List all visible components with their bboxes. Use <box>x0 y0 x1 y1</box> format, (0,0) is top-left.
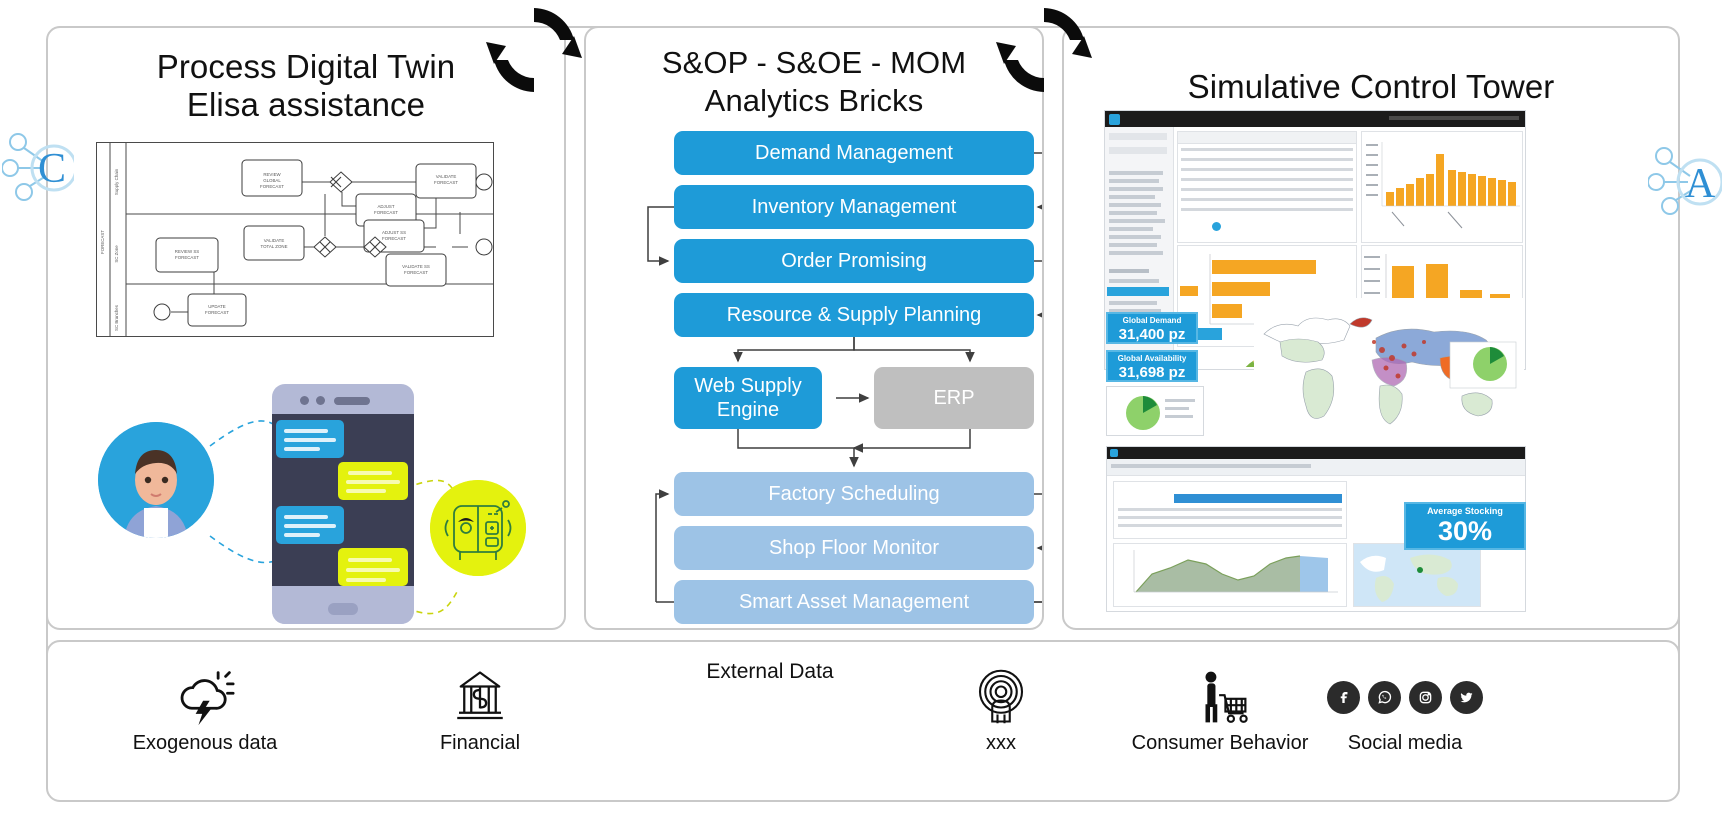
node-letter-a: A <box>1685 161 1716 207</box>
brick-inventory-management[interactable]: Inventory Management <box>674 185 1034 229</box>
phone-sensor-icon <box>316 396 325 405</box>
tile-area-chart <box>1113 543 1347 607</box>
whatsapp-icon[interactable] <box>1368 681 1401 714</box>
panel-analytics-bricks: S&OP - S&OE - MOM Analytics Bricks Dema <box>584 26 1044 630</box>
svg-text:ADJUST: ADJUST <box>377 204 394 209</box>
brick-shop-floor-monitor[interactable]: Shop Floor Monitor <box>674 526 1034 570</box>
sync-cycle-icon-right <box>996 2 1092 98</box>
tile-mini-map <box>1353 543 1481 607</box>
phone-camera-icon <box>300 396 309 405</box>
node-network-icon-c: C <box>2 128 74 206</box>
elisa-chat-illustration <box>90 376 530 630</box>
svg-text:SC Zone: SC Zone <box>114 245 119 263</box>
tile-world-map <box>1254 298 1524 434</box>
svg-text:TOTAL ZONE: TOTAL ZONE <box>261 244 288 249</box>
brick-smart-asset-management[interactable]: Smart Asset Management <box>674 580 1034 624</box>
shopper-cart-icon <box>1125 664 1315 730</box>
chat-bubble-user-2 <box>276 506 344 544</box>
smartphone-mockup <box>272 384 414 624</box>
svg-text:VALIDATE: VALIDATE <box>264 238 285 243</box>
kpi-global-availability-value: 31,698 pz <box>1108 364 1196 381</box>
svg-text:FORECAST: FORECAST <box>382 236 406 241</box>
pagination-current-page[interactable] <box>1212 222 1221 231</box>
brick-web-supply-engine[interactable]: Web Supply Engine <box>674 367 822 429</box>
control-tower-dashboard-screenshot: Global Demand 31,400 pz Global Availabil… <box>1104 110 1624 610</box>
user-avatar <box>98 422 214 538</box>
bottom-titlebar <box>1107 447 1525 459</box>
bpmn-process-diagram: REVIEWGLOBALFORECAST ADJUSTFORECAST VALI… <box>96 142 494 337</box>
kpi-global-demand: Global Demand 31,400 pz <box>1106 312 1198 344</box>
panel-mid-title: S&OP - S&OE - MOM Analytics Bricks <box>586 44 1042 120</box>
source-xxx[interactable]: xxx <box>906 664 1096 755</box>
bank-dollar-icon <box>385 664 575 730</box>
bottom-toolbar[interactable] <box>1107 459 1525 476</box>
kpi-average-stocking-value: 30% <box>1406 516 1524 546</box>
source-xxx-label: xxx <box>906 732 1096 755</box>
kpi-average-stocking-label: Average Stocking <box>1406 504 1524 516</box>
svg-text:Supply Chain: Supply Chain <box>114 168 119 195</box>
instagram-icon[interactable] <box>1409 681 1442 714</box>
panel-simulative-control-tower: Simulative Control Tower <box>1062 26 1680 630</box>
svg-text:ADJUST SS: ADJUST SS <box>382 230 406 235</box>
titlebar-menu <box>1389 116 1519 120</box>
social-icons-row <box>1310 664 1500 730</box>
brick-demand-management[interactable]: Demand Management <box>674 131 1034 175</box>
kpi-global-availability-label: Global Availability <box>1108 352 1196 364</box>
chat-bubble-bot-2 <box>338 548 408 586</box>
wse-line2: Engine <box>717 398 779 422</box>
sync-cycle-icon-left <box>486 2 582 98</box>
tile-orders-table <box>1177 131 1357 243</box>
panel-process-digital-twin: Process Digital Twin Elisa assistance <box>46 26 566 630</box>
node-letter-c: C <box>38 146 66 192</box>
signal-person-icon <box>906 664 1096 730</box>
source-social-media[interactable]: Social media <box>1310 664 1500 755</box>
sidebar-selected-item[interactable] <box>1107 287 1169 296</box>
node-network-icon-a: A <box>1648 140 1722 222</box>
twitter-icon[interactable] <box>1450 681 1483 714</box>
svg-text:FORECAST: FORECAST <box>205 310 229 315</box>
tile-small-pie <box>1106 386 1204 436</box>
tile-production-plan-table <box>1113 481 1347 539</box>
chat-bubble-user-1 <box>276 420 344 458</box>
phone-speaker-icon <box>334 397 370 405</box>
source-exogenous-data-label: Exogenous data <box>110 732 300 755</box>
tile-waterfall-chart <box>1361 131 1523 243</box>
source-consumer-behavior[interactable]: Consumer Behavior <box>1125 664 1315 755</box>
svg-text:REVIEW: REVIEW <box>263 172 281 177</box>
svg-text:FORECAST: FORECAST <box>374 210 398 215</box>
source-social-media-label: Social media <box>1310 732 1500 755</box>
brick-erp[interactable]: ERP <box>874 367 1034 429</box>
panel-external-data-sources: External Data Exogenous data <box>46 640 1680 802</box>
panel-mid-title-line1: S&OP - S&OE - MOM <box>586 44 1042 82</box>
svg-text:GLOBAL: GLOBAL <box>263 178 281 183</box>
svg-text:SC Branches: SC Branches <box>114 304 119 331</box>
phone-chin <box>272 588 414 624</box>
brick-resource-supply-planning[interactable]: Resource & Supply Planning <box>674 293 1034 337</box>
kpi-global-demand-value: 31,400 pz <box>1108 326 1196 343</box>
svg-text:FORECAST: FORECAST <box>175 255 199 260</box>
dashboard-titlebar <box>1105 111 1525 127</box>
source-financial[interactable]: Financial <box>385 664 575 755</box>
external-data-label: External Data <box>675 660 865 684</box>
app-logo-icon <box>1109 114 1120 125</box>
kpi-global-demand-label: Global Demand <box>1108 314 1196 326</box>
phone-screen <box>272 414 414 586</box>
source-consumer-behavior-label: Consumer Behavior <box>1125 732 1315 755</box>
svg-text:FORECAST: FORECAST <box>434 180 458 185</box>
svg-text:UPDATE: UPDATE <box>208 304 226 309</box>
svg-text:REVIEW SS: REVIEW SS <box>175 249 199 254</box>
facebook-icon[interactable] <box>1327 681 1360 714</box>
brick-order-promising[interactable]: Order Promising <box>674 239 1034 283</box>
source-exogenous-data[interactable]: Exogenous data <box>110 664 300 755</box>
panel-right-title: Simulative Control Tower <box>1064 68 1678 106</box>
phone-home-button-icon <box>328 603 358 615</box>
svg-text:FORECAST: FORECAST <box>404 270 428 275</box>
source-financial-label: Financial <box>385 732 575 755</box>
svg-text:VALIDATE: VALIDATE <box>436 174 457 179</box>
brick-factory-scheduling[interactable]: Factory Scheduling <box>674 472 1034 516</box>
cloud-lightning-icon <box>110 664 300 730</box>
ai-robot-icon <box>430 480 526 576</box>
panel-mid-title-line2: Analytics Bricks <box>586 82 1042 120</box>
chat-bubble-bot-1 <box>338 462 408 500</box>
svg-text:FORECAST: FORECAST <box>260 184 284 189</box>
wse-line1: Web Supply <box>694 374 801 398</box>
kpi-global-availability: Global Availability 31,698 pz <box>1106 350 1198 382</box>
svg-text:VALIDATE SS: VALIDATE SS <box>402 264 430 269</box>
kpi-average-stocking: Average Stocking 30% <box>1404 502 1526 550</box>
svg-text:FORECAST: FORECAST <box>100 230 105 254</box>
